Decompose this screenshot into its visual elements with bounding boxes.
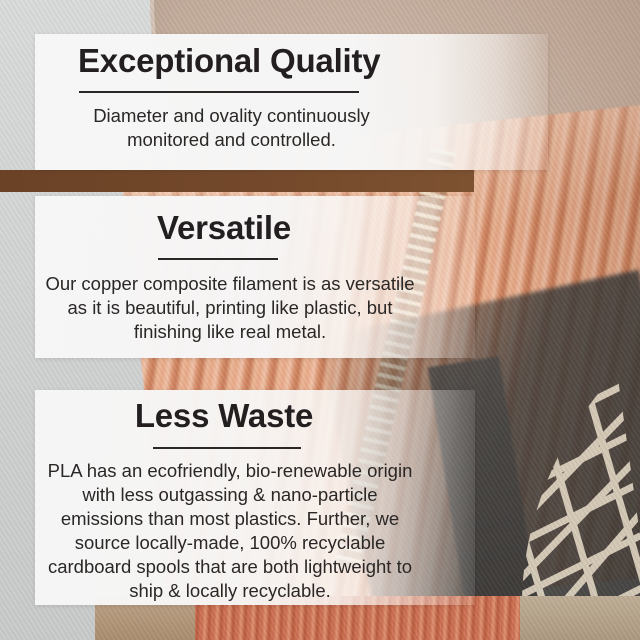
panel-content-versatile: Versatile Our copper composite filament … [35, 196, 475, 358]
feature-panel-waste: Less Waste PLA has an ecofriendly, bio-r… [35, 390, 475, 605]
panel-divider-waste [153, 447, 301, 449]
panel-body-waste: PLA has an ecofriendly, bio-renewable or… [39, 459, 421, 603]
panel-heading-versatile: Versatile [35, 211, 475, 246]
panel-divider-versatile [158, 258, 278, 260]
panel-heading-quality: Exceptional Quality [78, 44, 380, 79]
bottom-cardboard-right [520, 596, 640, 640]
feature-panel-versatile: Versatile Our copper composite filament … [35, 196, 475, 358]
feature-panel-quality: Exceptional Quality Diameter and ovality… [35, 34, 548, 170]
panel-body-versatile: Our copper composite filament is as vers… [45, 272, 415, 344]
panel-divider-quality [79, 91, 359, 93]
product-feature-graphic: Exceptional Quality Diameter and ovality… [0, 0, 640, 640]
panel-body-quality: Diameter and ovality continuously monito… [59, 104, 404, 152]
panel-content-waste: Less Waste PLA has an ecofriendly, bio-r… [35, 390, 475, 605]
panel-heading-waste: Less Waste [35, 399, 475, 434]
brown-separator-band [0, 170, 474, 192]
panel-content-quality: Exceptional Quality Diameter and ovality… [35, 34, 548, 170]
